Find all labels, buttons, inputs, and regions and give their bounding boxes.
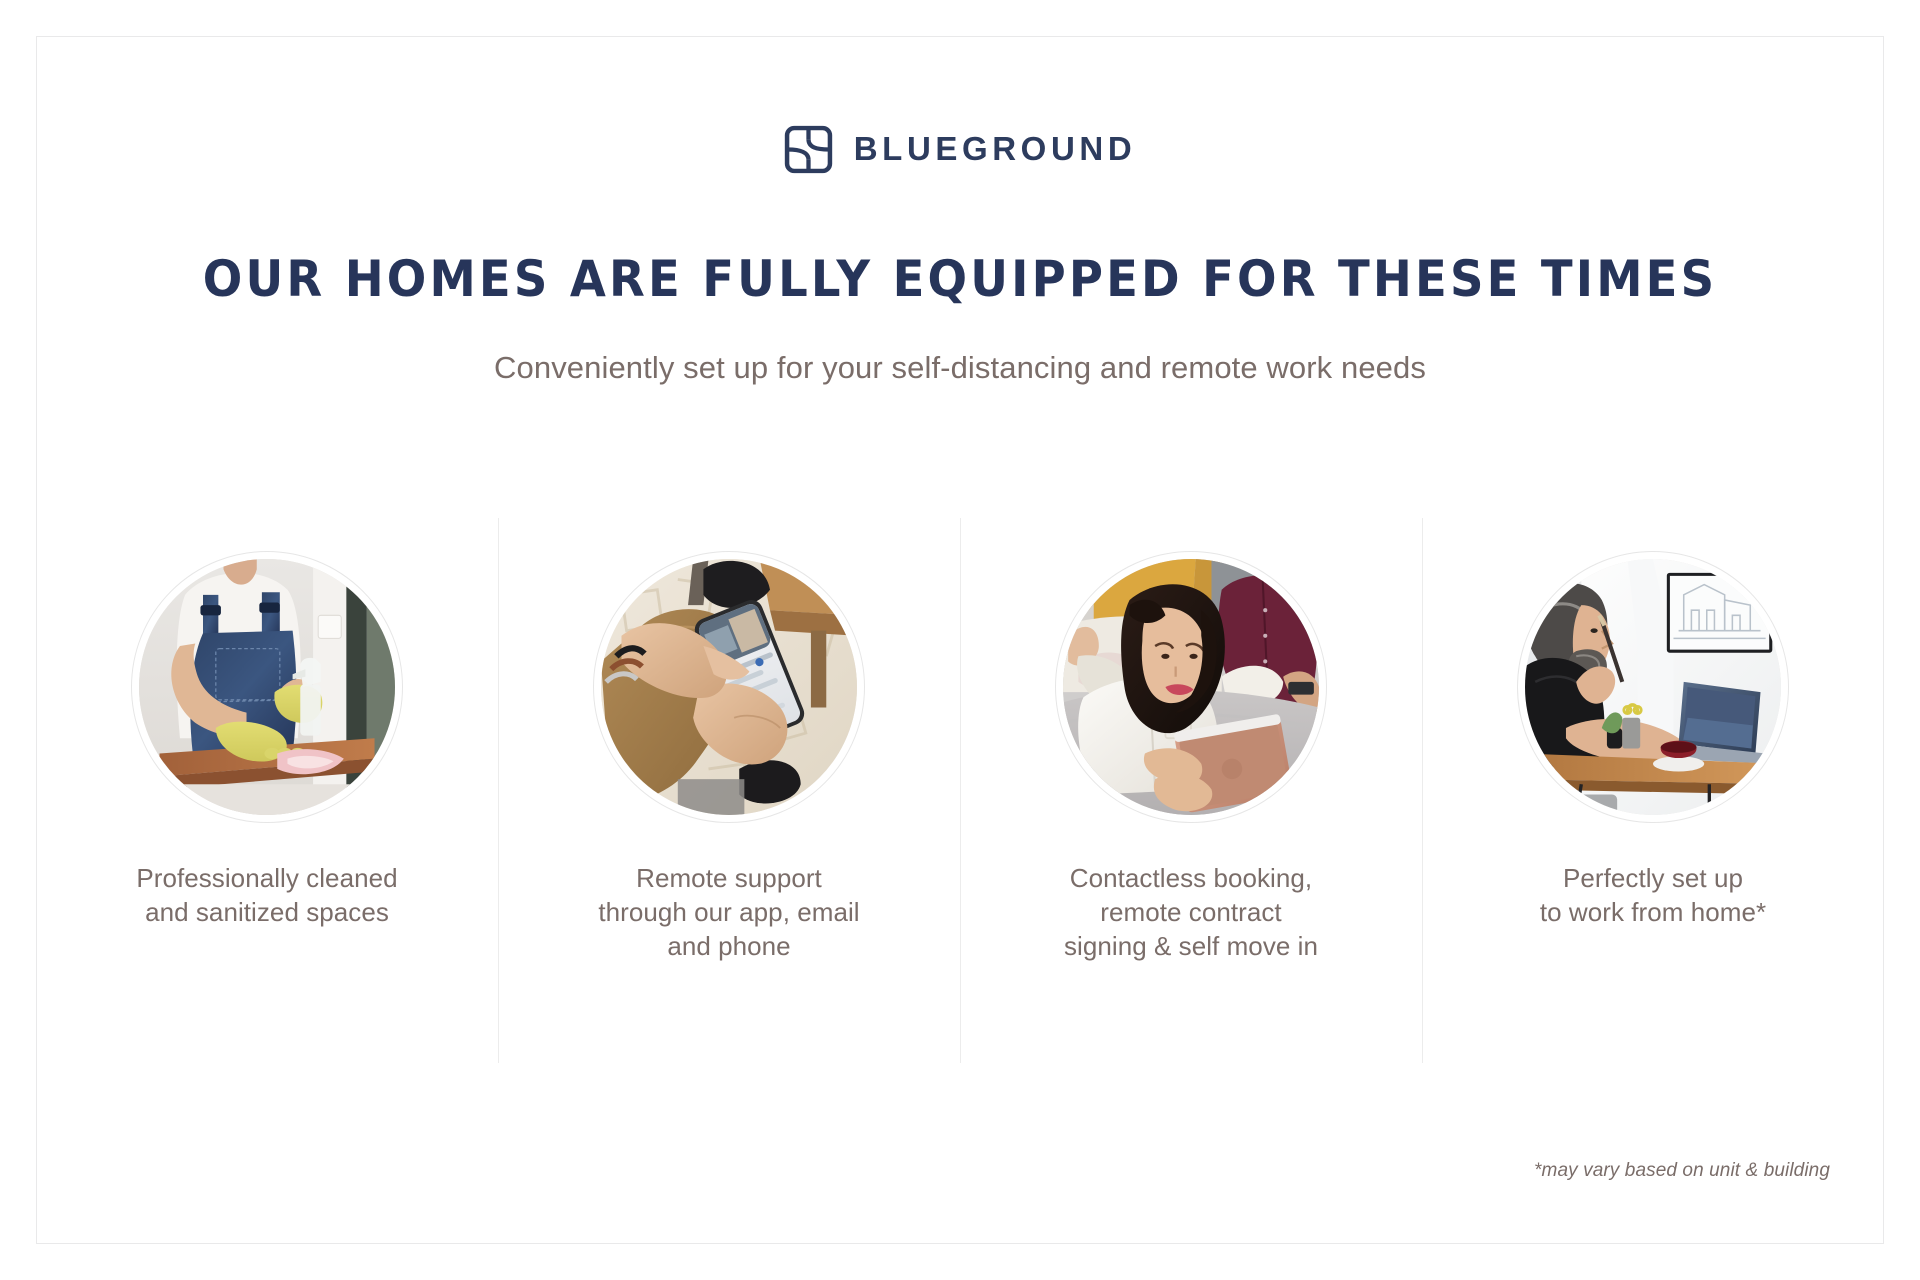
feature-caption: Professionally cleaned and sanitized spa… bbox=[136, 861, 397, 929]
caption-line: to work from home* bbox=[1540, 895, 1766, 929]
photo-smartphone-app bbox=[601, 559, 857, 815]
caption-line: and sanitized spaces bbox=[136, 895, 397, 929]
feature-column-remote-support: Remote support through our app, email an… bbox=[498, 518, 960, 1063]
caption-line: through our app, email bbox=[598, 895, 859, 929]
feature-caption: Remote support through our app, email an… bbox=[598, 861, 859, 963]
caption-line: Perfectly set up bbox=[1540, 861, 1766, 895]
feature-columns: Professionally cleaned and sanitized spa… bbox=[36, 518, 1884, 1063]
photo-frame bbox=[1055, 551, 1327, 823]
caption-line: and phone bbox=[598, 929, 859, 963]
caption-line: signing & self move in bbox=[1064, 929, 1318, 963]
feature-caption: Perfectly set up to work from home* bbox=[1540, 861, 1766, 929]
footnote-disclaimer: *may vary based on unit & building bbox=[1534, 1160, 1830, 1182]
feature-caption: Contactless booking, remote contract sig… bbox=[1064, 861, 1318, 963]
feature-column-work-from-home: Perfectly set up to work from home* bbox=[1422, 518, 1884, 1063]
caption-line: remote contract bbox=[1064, 895, 1318, 929]
caption-line: Professionally cleaned bbox=[136, 861, 397, 895]
brand-logo: BLUEGROUND bbox=[0, 125, 1920, 174]
page-title: OUR HOMES ARE FULLY EQUIPPED FOR THESE T… bbox=[67, 253, 1853, 306]
caption-line: Remote support bbox=[598, 861, 859, 895]
photo-frame bbox=[1517, 551, 1789, 823]
photo-work-from-home bbox=[1525, 559, 1781, 815]
feature-column-cleaning: Professionally cleaned and sanitized spa… bbox=[36, 518, 498, 1063]
page-subtitle: Conveniently set up for your self-distan… bbox=[0, 350, 1920, 386]
feature-column-contactless-booking: Contactless booking, remote contract sig… bbox=[960, 518, 1422, 1063]
photo-frame bbox=[131, 551, 403, 823]
photo-tablet-art bbox=[1063, 559, 1319, 815]
brand-wordmark: BLUEGROUND bbox=[854, 132, 1137, 167]
blueground-mark-icon bbox=[784, 125, 833, 174]
photo-frame bbox=[593, 551, 865, 823]
photo-desk-art bbox=[1525, 559, 1781, 815]
photo-cleaning-professional bbox=[139, 559, 395, 815]
caption-line: Contactless booking, bbox=[1064, 861, 1318, 895]
marketing-banner: BLUEGROUND OUR HOMES ARE FULLY EQUIPPED … bbox=[0, 0, 1920, 1280]
photo-cleaning-art bbox=[139, 559, 395, 815]
photo-tablet-booking bbox=[1063, 559, 1319, 815]
photo-phone-art bbox=[601, 559, 857, 815]
